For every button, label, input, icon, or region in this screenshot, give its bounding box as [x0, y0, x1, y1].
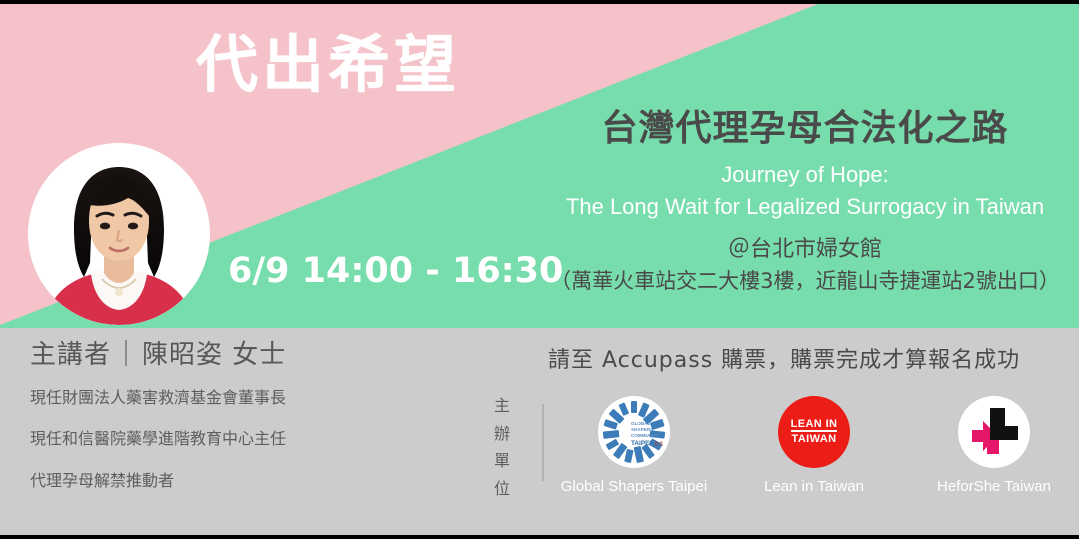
ticket-notice: 請至 Accupass 購票，購票完成才算報名成功: [548, 342, 1020, 374]
sponsor-item[interactable]: GLOBAL SHAPERS COMMUNITY TAIPEI 台北 Globa…: [556, 396, 712, 496]
list-item: 現任財團法人藥害救濟基金會董事長: [30, 388, 500, 407]
sponsor-name: HeforShe Taiwan: [916, 478, 1072, 496]
organizer-label-char: 位: [490, 475, 514, 503]
lean-in-taiwan-logo-icon: LEAN IN TAIWAN: [778, 396, 850, 468]
vertical-divider: [542, 404, 544, 481]
subtitle-english-line1: Journey of Hope:: [540, 159, 1070, 191]
headline-block: 台灣代理孕母合法化之路 Journey of Hope: The Long Wa…: [540, 108, 1070, 298]
global-shapers-glyph: GLOBAL SHAPERS COMMUNITY TAIPEI 台北: [598, 396, 670, 468]
svg-text:TAIPEI: TAIPEI: [631, 440, 651, 447]
organizer-label-char: 辦: [490, 420, 514, 448]
sponsor-name: Global Shapers Taipei: [556, 478, 712, 496]
global-shapers-logo-icon: GLOBAL SHAPERS COMMUNITY TAIPEI 台北: [598, 396, 670, 468]
bottom-letterbox-bar: [0, 535, 1079, 539]
sponsor-name: Lean in Taiwan: [736, 478, 892, 496]
speaker-divider: ｜: [113, 340, 140, 370]
event-datetime: 6/9 14:00 - 16:30: [228, 254, 563, 289]
svg-text:SHAPERS: SHAPERS: [631, 427, 653, 432]
list-item: 現任和信醫院藥學進階教育中心主任: [30, 429, 500, 448]
speaker-bio-list: 現任財團法人藥害救濟基金會董事長 現任和信醫院藥學進階教育中心主任 代理孕母解禁…: [30, 388, 500, 490]
event-poster: 代出希望: [0, 0, 1079, 539]
organizer-label-char: 單: [490, 447, 514, 475]
sponsor-item[interactable]: LEAN IN TAIWAN Lean in Taiwan: [736, 396, 892, 496]
speaker-name: 陳昭姿 女士: [142, 340, 286, 370]
speaker-section: 主講者｜陳昭姿 女士 現任財團法人藥害救濟基金會董事長 現任和信醫院藥學進階教育…: [30, 340, 500, 512]
list-item: 代理孕母解禁推動者: [30, 471, 500, 490]
sponsor-item[interactable]: HeforShe Taiwan: [916, 396, 1072, 496]
speaker-heading: 主講者｜陳昭姿 女士: [30, 340, 500, 371]
heforshe-glyph: [958, 396, 1030, 468]
venue-block: ＠台北市婦女館 （萬華火車站交二大樓3樓，近龍山寺捷運站2號出口）: [540, 233, 1070, 298]
venue-address: （萬華火車站交二大樓3樓，近龍山寺捷運站2號出口）: [540, 266, 1070, 298]
venue-name: ＠台北市婦女館: [540, 233, 1070, 266]
sponsor-logo-row: GLOBAL SHAPERS COMMUNITY TAIPEI 台北 Globa…: [556, 396, 1072, 496]
organizer-label-char: 主: [490, 392, 514, 420]
organizer-vertical-label: 主 辦 單 位: [490, 392, 514, 502]
page-title: 代出希望: [196, 34, 460, 96]
speaker-avatar: [28, 143, 210, 325]
heforshe-logo-icon: [958, 396, 1030, 468]
lean-in-line2: TAIWAN: [792, 432, 837, 447]
svg-text:COMMUNITY: COMMUNITY: [631, 433, 659, 438]
lean-in-glyph: LEAN IN TAIWAN: [778, 396, 850, 468]
speaker-label: 主講者: [30, 340, 111, 370]
svg-text:GLOBAL: GLOBAL: [631, 421, 651, 426]
subtitle-english-line2: The Long Wait for Legalized Surrogacy in…: [540, 191, 1070, 223]
lean-in-line1: LEAN IN: [791, 417, 838, 432]
portrait-illustration: [28, 143, 210, 325]
subtitle-chinese: 台灣代理孕母合法化之路: [540, 108, 1070, 149]
svg-text:台北: 台北: [654, 440, 664, 447]
top-letterbox-bar: [0, 0, 1079, 4]
subtitle-english: Journey of Hope: The Long Wait for Legal…: [540, 159, 1070, 223]
